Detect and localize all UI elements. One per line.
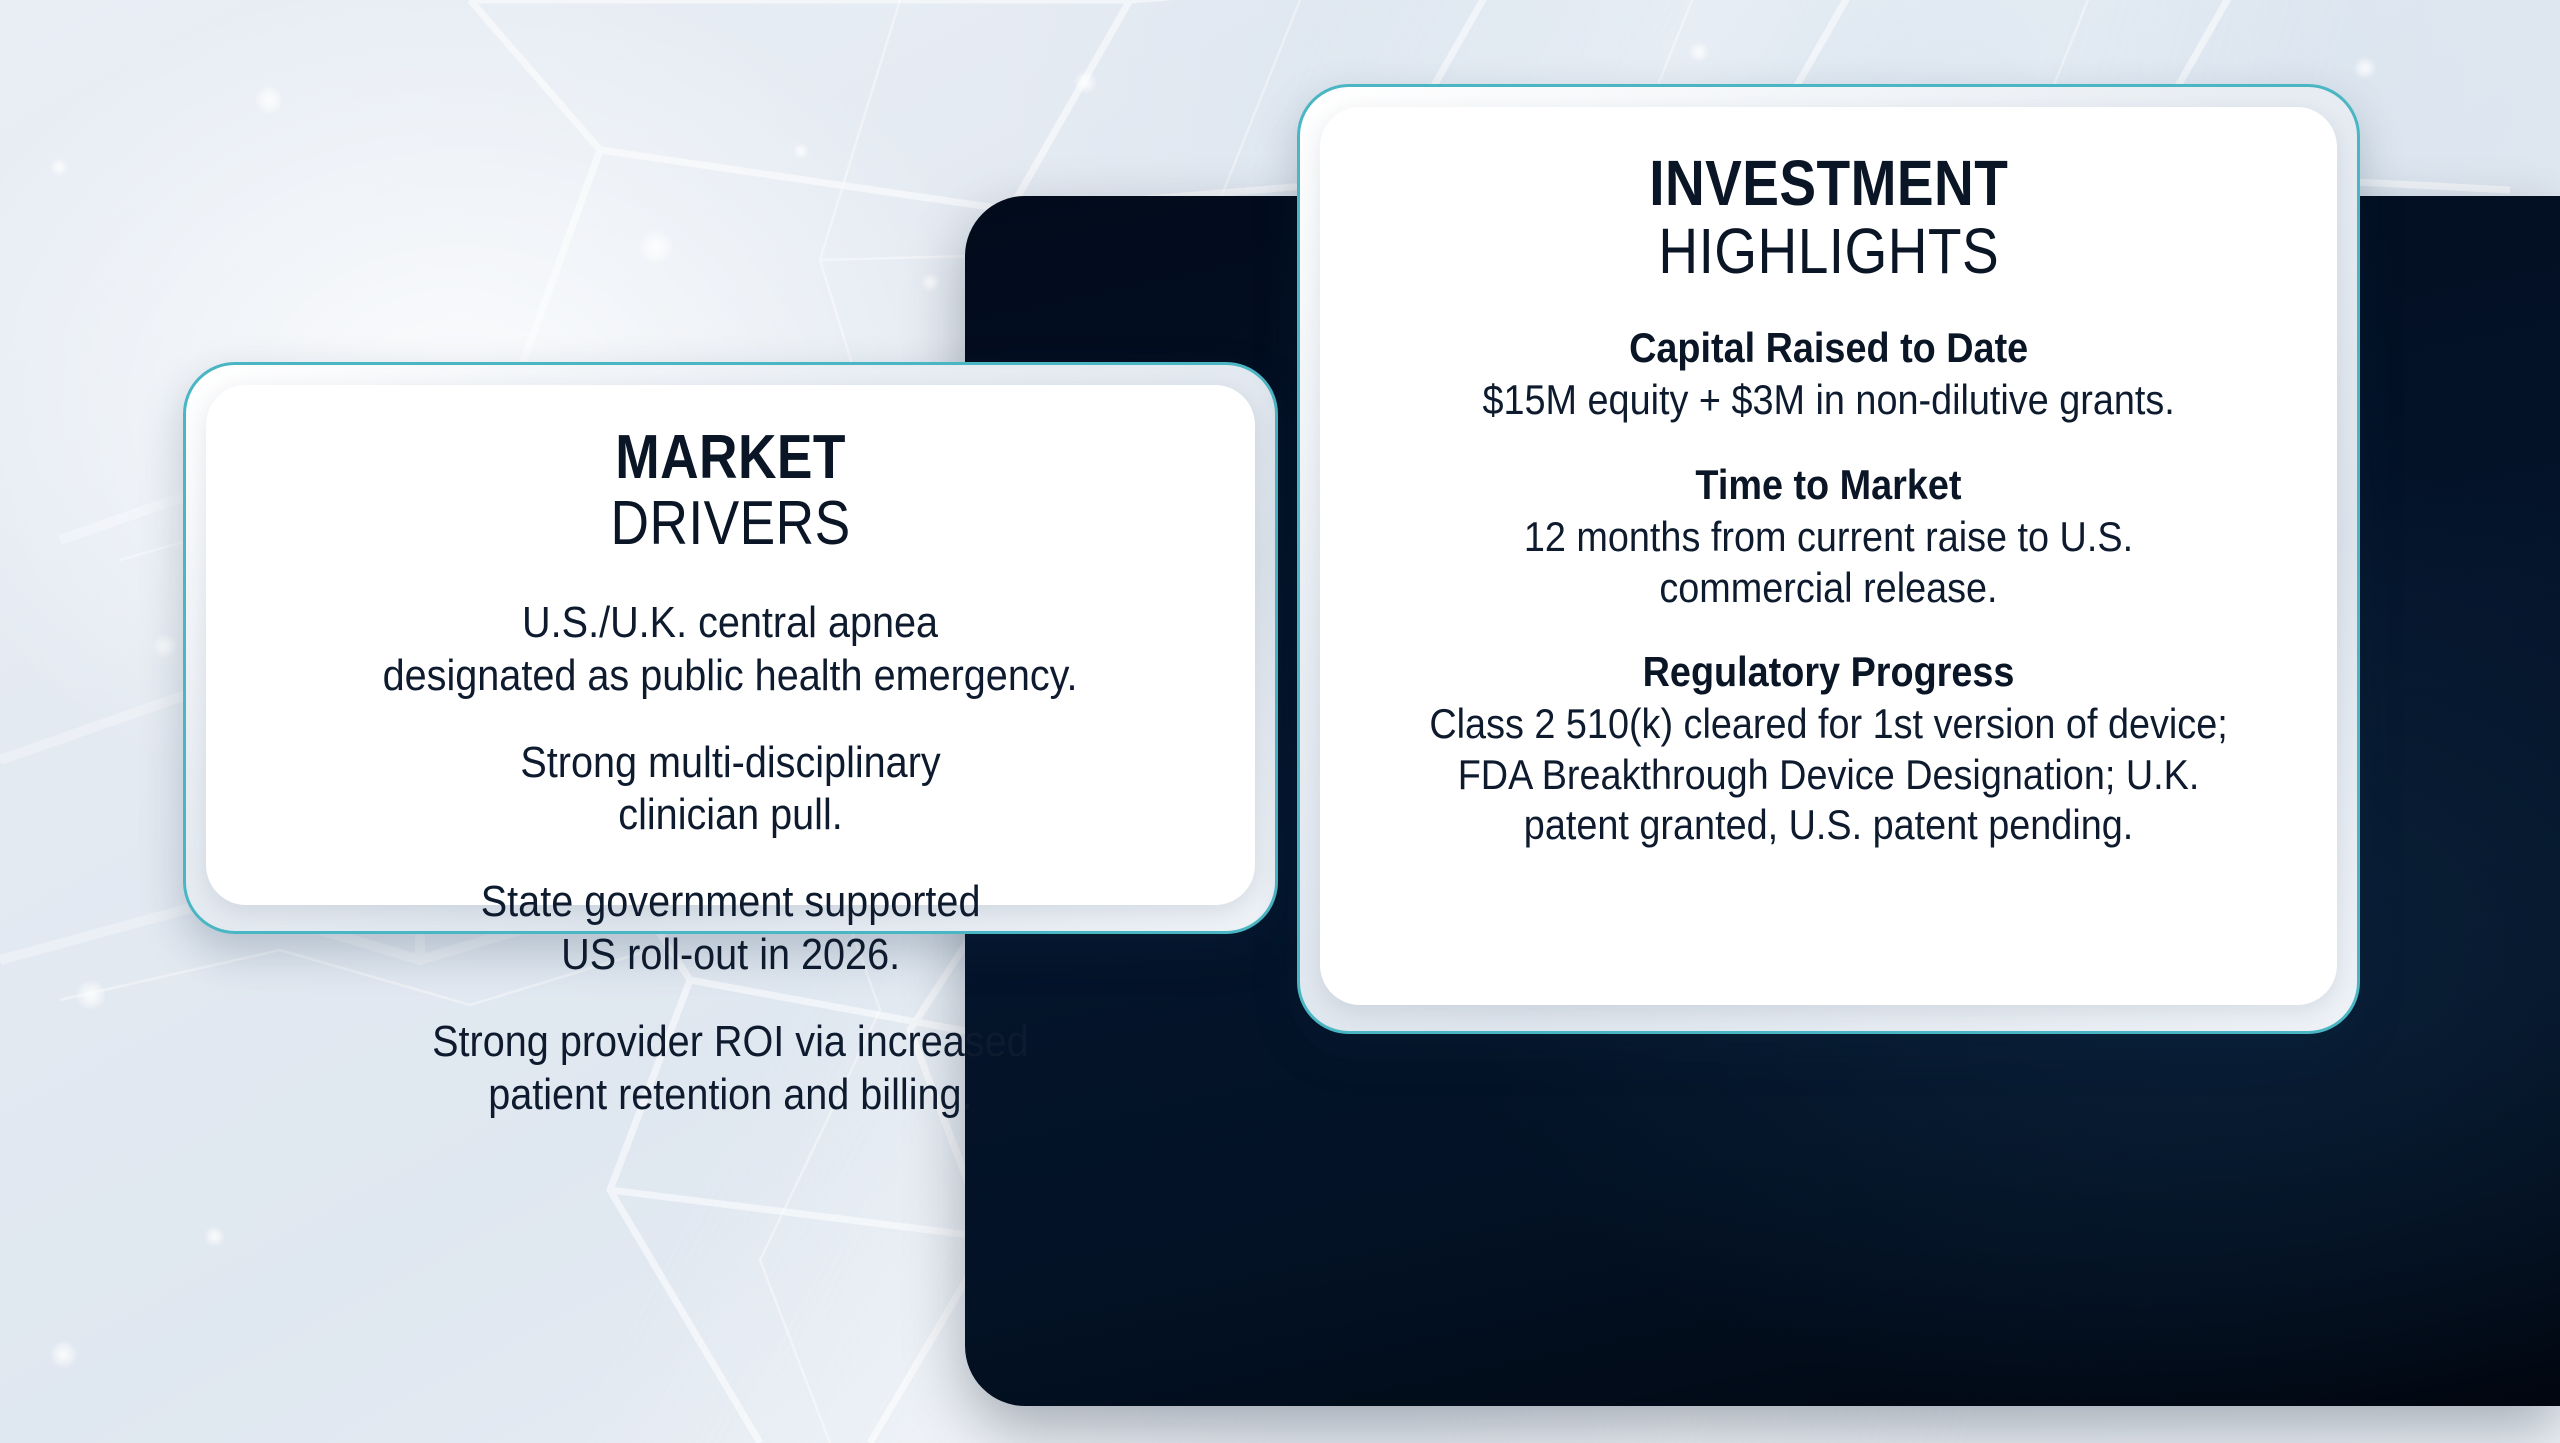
market-drivers-title-strong: MARKET bbox=[610, 427, 850, 489]
investment-highlights-card: INVESTMENT HIGHLIGHTS Capital Raised to … bbox=[1297, 84, 2360, 1034]
investment-highlights-title-strong: INVESTMENT bbox=[1649, 151, 2008, 215]
investment-group-regulatory-progress: Regulatory Progress Class 2 510(k) clear… bbox=[1385, 647, 2272, 851]
investment-group-body: $15M equity + $3M in non-dilutive grants… bbox=[1482, 375, 2174, 425]
investment-group-heading: Capital Raised to Date bbox=[1482, 323, 2174, 373]
market-driver-paragraph-4: Strong provider ROI via increasedpatient… bbox=[432, 1016, 1028, 1122]
investment-highlights-card-inner: INVESTMENT HIGHLIGHTS Capital Raised to … bbox=[1320, 107, 2337, 1005]
investment-group-body: Class 2 510(k) cleared for 1st version o… bbox=[1429, 699, 2227, 850]
investment-highlights-title-light: HIGHLIGHTS bbox=[1649, 219, 2008, 283]
investment-group-capital-raised: Capital Raised to Date $15M equity + $3M… bbox=[1444, 323, 2213, 426]
market-drivers-card-inner: MARKET DRIVERS U.S./U.K. central apneade… bbox=[206, 385, 1255, 905]
investment-group-time-to-market: Time to Market 12 months from current ra… bbox=[1490, 460, 2167, 613]
market-driver-paragraph-2: Strong multi-disciplinaryclinician pull. bbox=[520, 737, 940, 843]
investment-group-heading: Regulatory Progress bbox=[1429, 647, 2227, 697]
slide-canvas: MARKET DRIVERS U.S./U.K. central apneade… bbox=[0, 0, 2560, 1443]
investment-group-heading: Time to Market bbox=[1524, 460, 2133, 510]
market-drivers-title-light: DRIVERS bbox=[610, 493, 850, 555]
investment-highlights-title: INVESTMENT HIGHLIGHTS bbox=[1620, 151, 2037, 283]
market-driver-paragraph-1: U.S./U.K. central apneadesignated as pub… bbox=[383, 597, 1078, 703]
investment-group-body: 12 months from current raise to U.S.comm… bbox=[1524, 512, 2133, 613]
market-drivers-title: MARKET DRIVERS bbox=[591, 427, 870, 555]
market-drivers-card: MARKET DRIVERS U.S./U.K. central apneade… bbox=[183, 362, 1278, 934]
market-driver-paragraph-3: State government supportedUS roll-out in… bbox=[481, 876, 981, 982]
